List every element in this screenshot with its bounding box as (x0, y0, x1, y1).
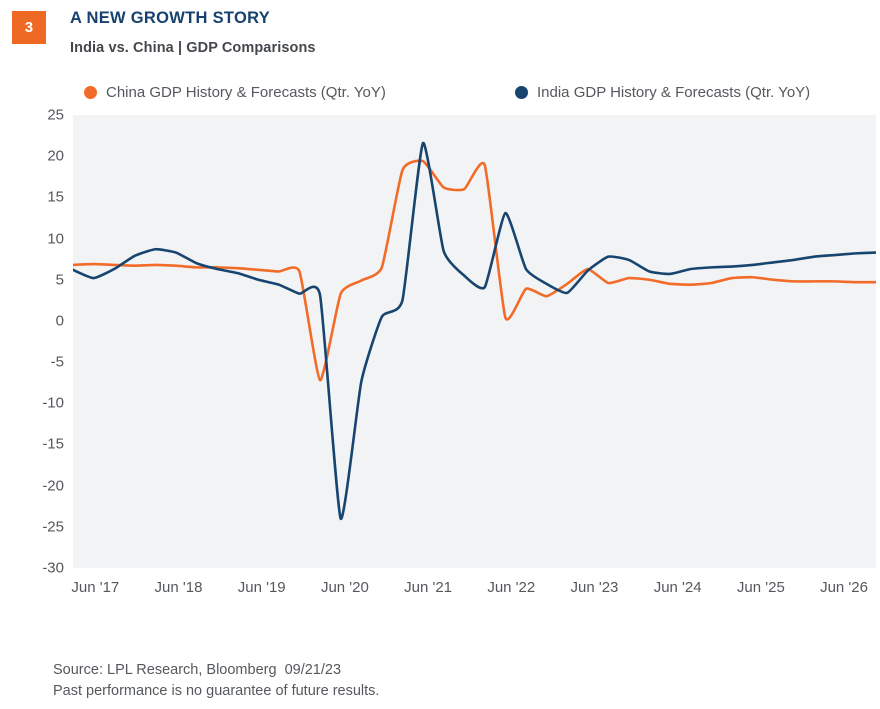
y-axis-tick-label: -10 (4, 396, 64, 411)
x-axis-tick-label: Jun '19 (238, 580, 286, 595)
chart-container: 2520151050-5-10-15-20-25-30 Jun '17Jun '… (0, 0, 880, 709)
disclaimer-line: Past performance is no guarantee of futu… (53, 681, 853, 702)
legend-dot-icon-china (84, 86, 97, 99)
series-line-india (73, 143, 876, 519)
plot-area-background (73, 115, 876, 568)
x-axis-tick-label: Jun '21 (404, 580, 452, 595)
y-axis-tick-label: 10 (4, 231, 64, 246)
y-axis-tick-label: -25 (4, 519, 64, 534)
legend-label-china: China GDP History & Forecasts (Qtr. YoY) (106, 84, 386, 101)
x-axis-tick-label: Jun '20 (321, 580, 369, 595)
y-axis-tick-label: 25 (4, 108, 64, 123)
y-axis-tick-label: -30 (4, 561, 64, 576)
y-axis-tick-label: -20 (4, 478, 64, 493)
legend-label-india: India GDP History & Forecasts (Qtr. YoY) (537, 84, 810, 101)
page-title: A NEW GROWTH STORY (70, 9, 270, 28)
chart-legend: China GDP History & Forecasts (Qtr. YoY)… (70, 80, 870, 104)
y-axis-tick-label: 0 (4, 313, 64, 328)
x-axis: Jun '17Jun '18Jun '19Jun '20Jun '21Jun '… (73, 580, 876, 604)
x-axis-tick-label: Jun '26 (820, 580, 868, 595)
y-axis-tick-label: -5 (4, 355, 64, 370)
chart-footer: Source: LPL Research, Bloomberg 09/21/23… (53, 660, 853, 702)
series-line-china (73, 161, 876, 381)
y-axis-tick-label: -15 (4, 437, 64, 452)
source-line: Source: LPL Research, Bloomberg 09/21/23 (53, 660, 853, 681)
legend-item-india[interactable]: India GDP History & Forecasts (Qtr. YoY) (515, 80, 810, 104)
x-axis-tick-label: Jun '17 (71, 580, 119, 595)
page-subtitle: India vs. China | GDP Comparisons (70, 40, 316, 56)
x-axis-tick-label: Jun '18 (155, 580, 203, 595)
slide-number-badge: 3 (12, 11, 46, 44)
legend-dot-icon-india (515, 86, 528, 99)
chart-header: 3 A NEW GROWTH STORY India vs. China | G… (0, 0, 880, 70)
x-axis-tick-label: Jun '25 (737, 580, 785, 595)
chart-lines-svg (73, 115, 876, 568)
y-axis-tick-label: 15 (4, 190, 64, 205)
x-axis-tick-label: Jun '22 (487, 580, 535, 595)
x-axis-tick-label: Jun '24 (654, 580, 702, 595)
x-axis-tick-label: Jun '23 (571, 580, 619, 595)
legend-item-china[interactable]: China GDP History & Forecasts (Qtr. YoY) (84, 80, 386, 104)
y-axis: 2520151050-5-10-15-20-25-30 (0, 115, 64, 568)
y-axis-tick-label: 20 (4, 149, 64, 164)
y-axis-tick-label: 5 (4, 272, 64, 287)
